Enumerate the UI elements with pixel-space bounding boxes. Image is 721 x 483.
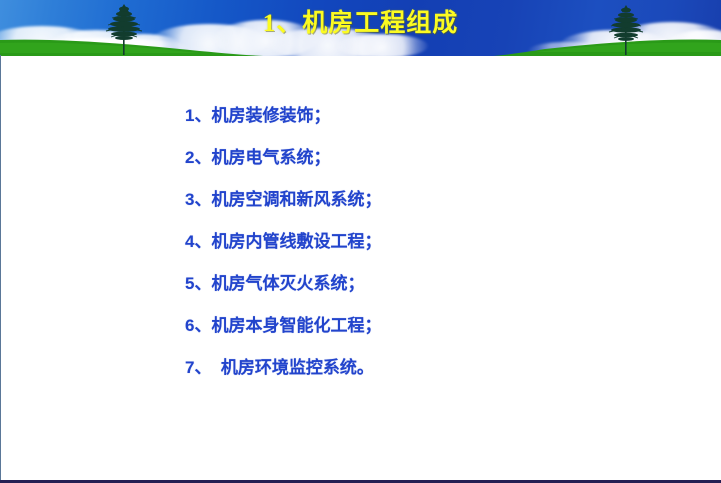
slide-body: 1、机房装修装饰； 2、机房电气系统； 3、机房空调和新风系统； 4、机房内管线… bbox=[0, 56, 721, 480]
list-item-label: 机房电气系统； bbox=[211, 148, 330, 167]
list-item: 6、机房本身智能化工程； bbox=[185, 315, 381, 357]
list-item-label: 机房空调和新风系统； bbox=[211, 190, 381, 209]
list-item: 5、机房气体灭火系统； bbox=[185, 273, 381, 315]
list-item-number: 2、 bbox=[185, 148, 211, 167]
slide-left-border bbox=[0, 55, 1, 482]
list-item: 7、 机房环境监控系统。 bbox=[185, 357, 381, 399]
slide-header-banner: 1、机房工程组成 bbox=[0, 0, 721, 56]
list-item: 1、机房装修装饰； bbox=[185, 105, 381, 147]
list-item-label: 机房内管线敷设工程； bbox=[211, 232, 381, 251]
list-item: 3、机房空调和新风系统； bbox=[185, 189, 381, 231]
list-item-number: 1、 bbox=[185, 106, 211, 125]
list-item-number: 7、 bbox=[185, 358, 211, 377]
slide-title: 1、机房工程组成 bbox=[0, 3, 721, 39]
presentation-slide: 1、机房工程组成 1、机房装修装饰； 2、机房电气系统； 3、机房空调和新风系统… bbox=[0, 0, 721, 483]
list-item-label: 机房本身智能化工程； bbox=[211, 316, 381, 335]
list-item-number: 5、 bbox=[185, 274, 211, 293]
list-item: 4、机房内管线敷设工程； bbox=[185, 231, 381, 273]
list-item-label: 机房环境监控系统。 bbox=[211, 358, 373, 377]
list-item-label: 机房气体灭火系统； bbox=[211, 274, 364, 293]
list-item: 2、机房电气系统； bbox=[185, 147, 381, 189]
list-item-number: 4、 bbox=[185, 232, 211, 251]
list-item-number: 3、 bbox=[185, 190, 211, 209]
list-item-number: 6、 bbox=[185, 316, 211, 335]
component-list: 1、机房装修装饰； 2、机房电气系统； 3、机房空调和新风系统； 4、机房内管线… bbox=[185, 105, 381, 399]
list-item-label: 机房装修装饰； bbox=[211, 106, 330, 125]
